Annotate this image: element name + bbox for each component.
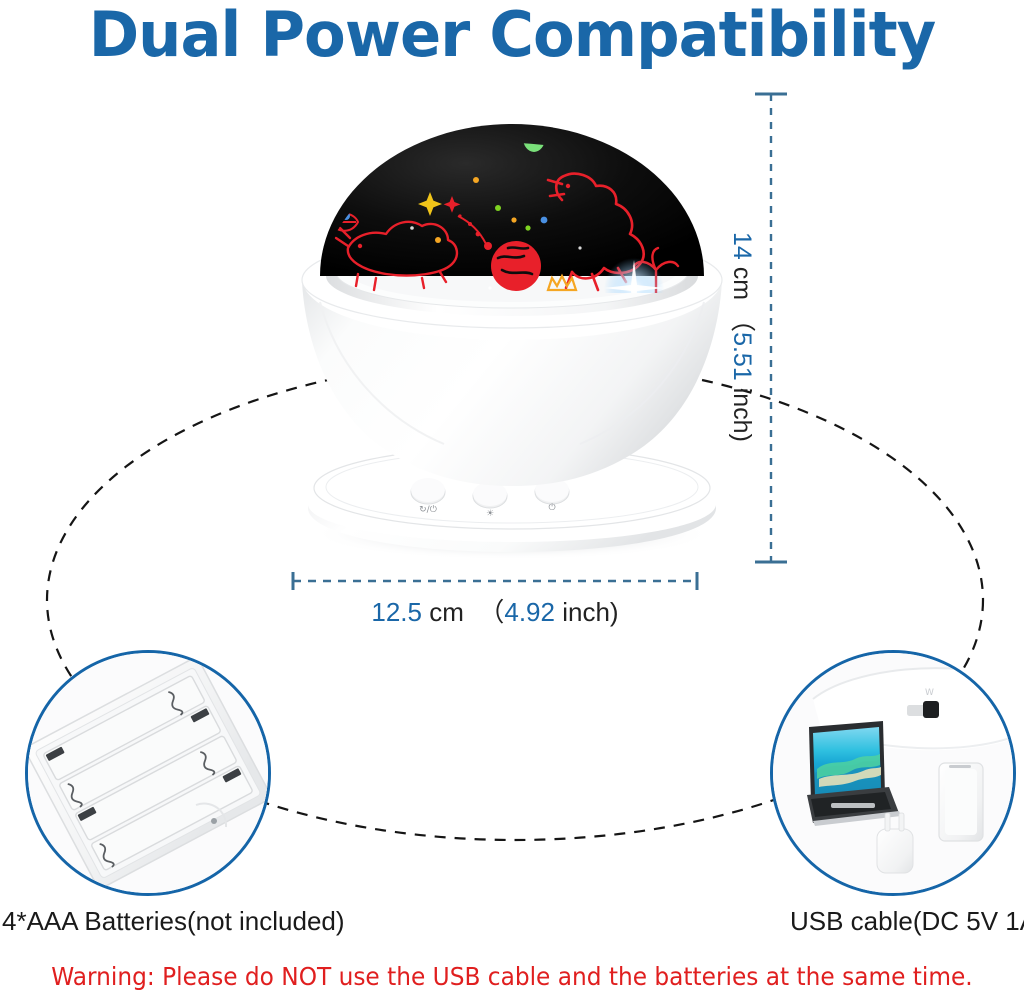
power-bank bbox=[939, 763, 983, 841]
usb-inset-caption: USB cable(DC 5V 1A) bbox=[790, 906, 1024, 937]
planet-motif bbox=[491, 241, 541, 291]
width-dimension-label: 12.5 cm （4.92 inch) bbox=[285, 592, 705, 629]
width-dimension-line bbox=[285, 570, 705, 592]
svg-text:⏻: ⏻ bbox=[548, 502, 555, 513]
product-image: ↻/⏻ ☀ ⏻ bbox=[262, 88, 762, 568]
battery-compartment-inset bbox=[25, 650, 271, 896]
usb-power-inset: W bbox=[770, 650, 1016, 896]
svg-text:☀: ☀ bbox=[486, 509, 494, 519]
page-title: Dual Power Compatibility bbox=[10, 2, 1014, 68]
warning-text: Warning: Please do NOT use the USB cable… bbox=[36, 962, 988, 991]
height-dimension-label: 14 cm （5.51 inch) bbox=[726, 232, 762, 432]
battery-inset-caption: 4*AAA Batteries(not included) bbox=[2, 906, 342, 937]
svg-text:↻/⏻: ↻/⏻ bbox=[419, 504, 437, 515]
infographic-canvas: Dual Power Compatibility bbox=[0, 0, 1024, 1004]
svg-text:W: W bbox=[925, 688, 934, 698]
